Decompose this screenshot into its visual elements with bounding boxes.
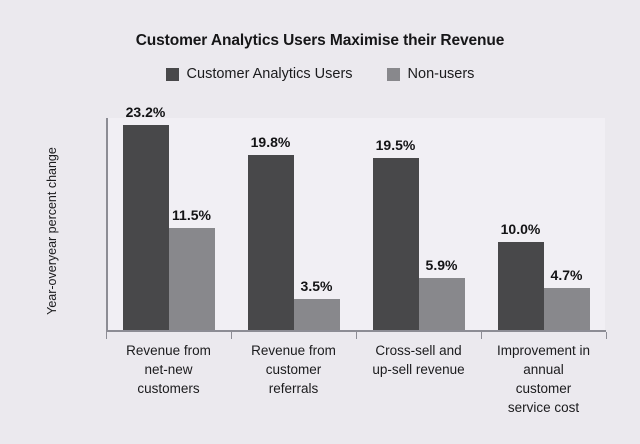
legend-swatch-non-users [387,68,400,81]
bar-value-label: 10.0% [501,221,541,237]
chart-title: Customer Analytics Users Maximise their … [0,32,640,50]
legend-swatch-customer-analytics-users [166,68,179,81]
x-axis-tick-mark [231,332,232,339]
x-axis-category-label-line: referrals [251,379,336,398]
bar[interactable] [498,242,544,330]
bar[interactable] [419,278,465,330]
y-axis-label: Year-overyear percent change [45,116,59,346]
x-axis-category-label-line: Improvement in [495,341,592,360]
bar-value-label: 5.9% [426,257,458,273]
bar-value-label: 4.7% [551,267,583,283]
x-axis-category-label-line: customer [251,360,336,379]
x-axis-category-label-line: Cross-sell and [372,341,464,360]
x-axis-tick-mark [106,332,107,339]
x-axis-category-label: Cross-sell andup-sell revenue [372,341,464,379]
bar-chart: Customer Analytics Users Maximise their … [0,0,640,444]
bar[interactable] [248,155,294,330]
bar-value-label: 19.5% [376,137,416,153]
legend-label-non-users: Non-users [408,66,475,82]
bar[interactable] [123,125,169,330]
x-axis-tick-mark [356,332,357,339]
bar[interactable] [373,158,419,330]
x-axis-category-label-line: Revenue from [126,341,211,360]
x-axis-category-label-line: Revenue from [251,341,336,360]
chart-legend: Customer Analytics Users Non-users [0,66,640,82]
x-axis-category-label: Revenue fromcustomerreferrals [251,341,336,398]
x-axis-tick-mark [481,332,482,339]
bar[interactable] [294,299,340,330]
x-axis-category-label: Improvement inannual customerservice cos… [495,341,592,417]
x-axis-tick-mark [606,332,607,339]
bar-value-label: 3.5% [301,278,333,294]
legend-label-customer-analytics-users: Customer Analytics Users [187,66,353,82]
legend-entry-customer-analytics-users[interactable]: Customer Analytics Users [166,66,353,82]
legend-entry-non-users[interactable]: Non-users [387,66,475,82]
x-axis-category-label-line: net-new [126,360,211,379]
bar-value-label: 23.2% [126,104,166,120]
x-axis-category-label: Revenue fromnet-newcustomers [126,341,211,398]
x-axis-category-label-line: up-sell revenue [372,360,464,379]
bar[interactable] [169,228,215,330]
bar[interactable] [544,288,590,330]
x-axis-category-label-line: annual customer [495,360,592,398]
x-axis-category-label-line: service cost [495,398,592,417]
bar-value-label: 19.8% [251,134,291,150]
bar-value-label: 11.5% [172,207,211,223]
x-axis-category-label-line: customers [126,379,211,398]
y-axis-spine [106,118,108,331]
